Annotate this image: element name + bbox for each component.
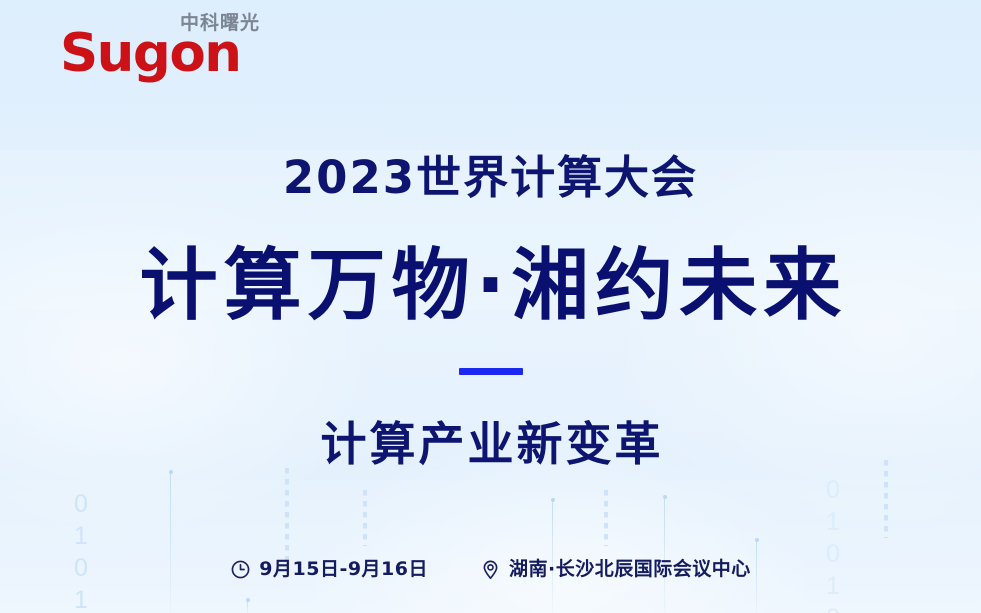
decor-dotted-line-3 xyxy=(604,490,608,546)
poster-subtitle: 计算产业新变革 xyxy=(0,413,981,475)
decor-binary-digit: 0 xyxy=(74,488,88,520)
background-glow-left xyxy=(0,180,380,540)
meta-date-text: 9月15日-9月16日 xyxy=(259,558,428,580)
decor-binary-right: 0101010 xyxy=(826,474,840,613)
divider-wrap xyxy=(0,368,981,375)
conference-poster: 010101 0101010 中科曙光 Sugon 2023世界计算大会 计算万… xyxy=(0,0,981,613)
background-band-bottom xyxy=(0,480,981,613)
meta-venue: 湖南·长沙北辰国际会议中心 xyxy=(480,558,751,580)
decor-vertical-line-3 xyxy=(552,500,553,613)
decor-binary-digit: 1 xyxy=(74,584,88,613)
headline-divider xyxy=(459,368,523,375)
location-pin-icon xyxy=(480,559,501,580)
decor-vertical-line-1 xyxy=(170,472,171,613)
event-name: 2023世界计算大会 xyxy=(0,150,981,206)
meta-venue-text: 湖南·长沙北辰国际会议中心 xyxy=(509,558,751,580)
logo-wordmark: Sugon xyxy=(60,25,240,83)
decor-binary-digit: 0 xyxy=(826,474,840,506)
meta-date: 9月15日-9月16日 xyxy=(230,558,428,580)
decor-binary-digit: 1 xyxy=(74,520,88,552)
poster-headline: 计算万物·湘约未来 xyxy=(0,238,981,334)
decor-vertical-line-2 xyxy=(247,600,248,613)
decor-binary-left: 010101 xyxy=(74,488,88,613)
clock-icon xyxy=(230,559,251,580)
sugon-logo: 中科曙光 Sugon xyxy=(60,6,260,90)
decor-binary-digit: 0 xyxy=(826,602,840,613)
decor-binary-digit: 1 xyxy=(826,506,840,538)
decor-dotted-line-2 xyxy=(363,490,367,546)
poster-meta-row: 9月15日-9月16日 湖南·长沙北辰国际会议中心 xyxy=(0,558,981,580)
decor-dotted-line-1 xyxy=(285,468,289,568)
decor-vertical-line-4 xyxy=(664,497,665,613)
